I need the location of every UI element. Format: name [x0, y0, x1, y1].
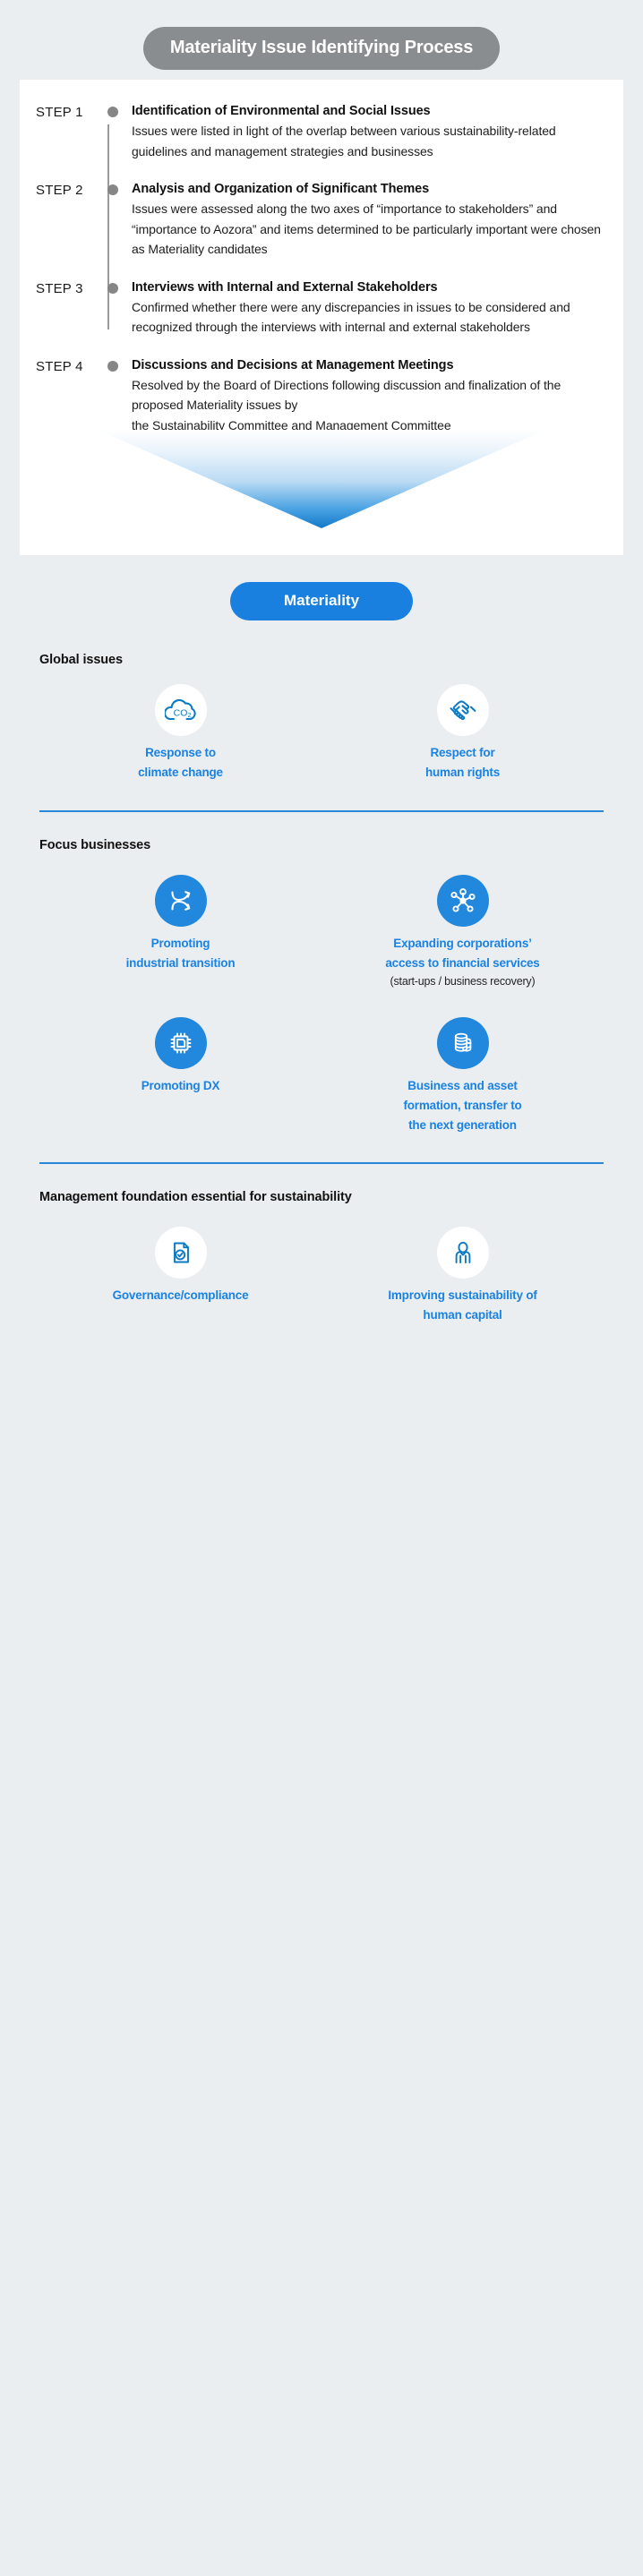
materiality-item[interactable]: Promoting DX	[39, 1017, 321, 1135]
step-dot-icon	[107, 361, 118, 372]
document-check-icon	[167, 1238, 195, 1267]
step-label: STEP 2	[36, 179, 100, 201]
step-title: Discussions and Decisions at Management …	[132, 355, 604, 375]
step-body: Interviews with Internal and External St…	[125, 278, 623, 338]
icon-badge	[437, 1017, 489, 1069]
materiality-item[interactable]: Governance/compliance	[39, 1227, 321, 1325]
step-body: Analysis and Organization of Significant…	[125, 179, 623, 260]
shuffle-arrows-icon	[167, 887, 195, 914]
icon-badge	[437, 684, 489, 736]
step-dot-column	[100, 355, 125, 372]
section-title: Global issues	[39, 651, 604, 670]
step-dot-column	[100, 101, 125, 117]
icon-grid: Governance/compliance Improving sustaina…	[39, 1227, 604, 1325]
step-description: Confirmed whether there were any discrep…	[132, 297, 604, 338]
icon-badge: CO 2	[155, 684, 207, 736]
materiality-button-wrap: Materiality	[0, 582, 643, 620]
page-title: Materiality Issue Identifying Process	[143, 27, 500, 70]
header: Materiality Issue Identifying Process	[0, 0, 643, 70]
icon-grid: Promoting industrial transition	[39, 875, 604, 990]
process-step: STEP 4 Discussions and Decisions at Mana…	[20, 355, 623, 436]
step-title: Identification of Environmental and Soci…	[132, 101, 604, 121]
section-management-foundation: Management foundation essential for sust…	[0, 1188, 643, 1325]
materiality-item[interactable]: Promoting industrial transition	[39, 875, 321, 990]
icon-badge	[437, 875, 489, 927]
section-title: Focus businesses	[39, 836, 604, 855]
step-body: Discussions and Decisions at Management …	[125, 355, 623, 436]
step-label: STEP 3	[36, 278, 100, 299]
step-dot-icon	[107, 184, 118, 195]
step-description: Issues were listed in light of the overl…	[132, 121, 604, 161]
step-dot-column	[100, 278, 125, 294]
icon-badge	[155, 875, 207, 927]
materiality-item[interactable]: Respect for human rights	[321, 684, 604, 783]
process-step: STEP 1 Identification of Environmental a…	[20, 101, 623, 161]
co2-cloud-icon: CO 2	[165, 697, 197, 723]
materiality-item[interactable]: Expanding corporations’ access to financ…	[321, 875, 604, 990]
section-focus-businesses: Focus businesses Promoting industrial tr…	[0, 836, 643, 1135]
step-label: STEP 4	[36, 355, 100, 377]
section-divider	[39, 810, 604, 812]
step-dot-icon	[107, 283, 118, 294]
section-divider	[39, 1162, 604, 1164]
step-dot-icon	[107, 107, 118, 117]
svg-text:2: 2	[187, 713, 191, 719]
item-subcaption: (start-ups / business recovery)	[390, 973, 536, 990]
process-step-list: STEP 1 Identification of Environmental a…	[20, 101, 623, 435]
item-caption: Respect for human rights	[425, 743, 500, 783]
step-description: Issues were assessed along the two axes …	[132, 199, 604, 260]
process-card: STEP 1 Identification of Environmental a…	[20, 80, 623, 555]
step-label: STEP 1	[36, 101, 100, 123]
materiality-item[interactable]: Business and asset formation, transfer t…	[321, 1017, 604, 1135]
step-title: Interviews with Internal and External St…	[132, 278, 604, 297]
materiality-item[interactable]: CO 2 Response to climate change	[39, 684, 321, 783]
item-caption: Business and asset formation, transfer t…	[403, 1076, 521, 1135]
icon-badge	[437, 1227, 489, 1279]
icon-grid: CO 2 Response to climate change	[39, 684, 604, 783]
step-title: Analysis and Organization of Significant…	[132, 179, 604, 199]
network-nodes-icon	[449, 886, 477, 915]
icon-grid: Promoting DX	[39, 1017, 604, 1135]
item-caption: Improving sustainability of human capita…	[388, 1286, 536, 1325]
item-caption: Expanding corporations’ access to financ…	[385, 934, 539, 973]
svg-text:CO: CO	[173, 707, 187, 718]
process-step: STEP 2 Analysis and Organization of Sign…	[20, 179, 623, 260]
step-body: Identification of Environmental and Soci…	[125, 101, 623, 161]
section-global-issues: Global issues CO 2 Response to climate c…	[0, 651, 643, 783]
section-title: Management foundation essential for sust…	[39, 1188, 604, 1207]
icon-badge	[155, 1017, 207, 1069]
item-caption: Promoting DX	[141, 1076, 220, 1096]
chevron-down-icon	[98, 430, 545, 528]
materiality-item[interactable]: Improving sustainability of human capita…	[321, 1227, 604, 1325]
process-step: STEP 3 Interviews with Internal and Exte…	[20, 278, 623, 338]
downward-arrow-zone	[20, 430, 623, 535]
handshake-icon	[447, 697, 479, 723]
step-description: Resolved by the Board of Directions foll…	[132, 375, 604, 436]
coin-stack-icon	[449, 1029, 477, 1057]
person-icon	[449, 1238, 477, 1267]
item-caption: Promoting industrial transition	[126, 934, 236, 973]
item-caption: Governance/compliance	[113, 1286, 249, 1305]
step-dot-column	[100, 179, 125, 195]
icon-badge	[155, 1227, 207, 1279]
microchip-icon	[167, 1029, 195, 1057]
item-caption: Response to climate change	[138, 743, 223, 783]
materiality-button[interactable]: Materiality	[230, 582, 413, 620]
